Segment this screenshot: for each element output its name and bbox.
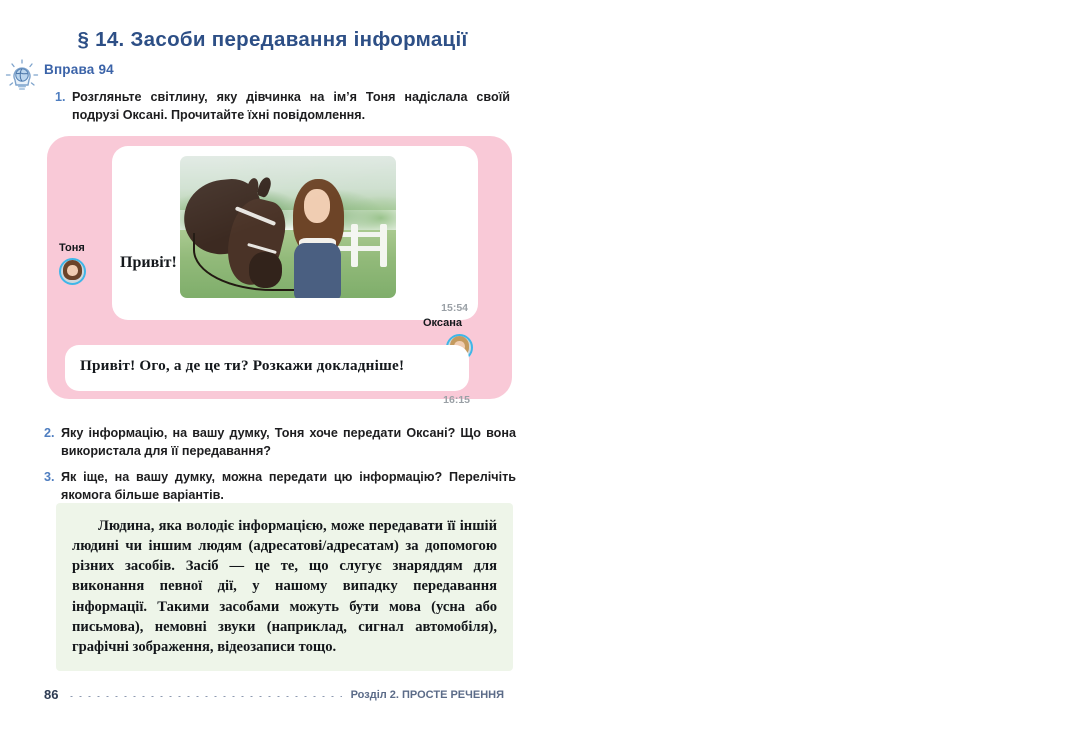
avatar-tonya [59,258,86,285]
page-title: § 14. Засоби передавання інформації [0,0,545,52]
task-item: 3. Як іще, на вашу думку, можна передати… [44,468,516,505]
chat-receiver-name: Оксана [423,317,462,329]
chat-sender-name: Тоня [59,242,85,254]
textbook-spread: § 14. Засоби передавання інформації [0,0,1089,730]
task-number: 1. [55,88,72,125]
task-text: Як іще, на вашу думку, можна передати цю… [61,468,516,505]
footer-left: 86 Розділ 2. ПРОСТЕ РЕЧЕННЯ [44,687,504,702]
chat-message-in-text: Привіт! [120,254,177,272]
task-item: 1. Розгляньте світлину, яку дівчинка на … [55,88,510,125]
info-box-left-paragraph: Людина, яка володіє інформацією, може пе… [72,516,497,657]
exercise-94-tasks: 1. Розгляньте світлину, яку дівчинка на … [55,88,510,132]
task-item: 2. Яку інформацію, на вашу думку, Тоня х… [44,424,516,461]
exercise-label-94: Вправа 94 [44,62,114,77]
left-page: § 14. Засоби передавання інформації [0,0,545,730]
chat-message-out-time: 16:15 [443,394,470,406]
right-page: Вправа 95 Пригадайте, які засоби передав… [545,0,1089,730]
lightbulb-globe-icon [4,58,40,94]
task-number: 2. [44,424,61,461]
footer-section-left: Розділ 2. ПРОСТЕ РЕЧЕННЯ [351,689,504,701]
chat-message-out-text: Привіт! Ого, а де це ти? Розкажи докладн… [80,357,404,375]
chat-illustration: Тоня [47,136,512,399]
chat-bubble-incoming: Привіт! 15:54 [112,146,478,320]
footer-dots [67,696,341,697]
task-number: 3. [44,468,61,505]
chat-photo-girl-with-horse [180,156,396,298]
task-text: Яку інформацію, на вашу думку, Тоня хоче… [61,424,516,461]
info-box-left: Людина, яка володіє інформацією, може пе… [56,503,513,671]
task-text: Розгляньте світлину, яку дівчинка на ім’… [72,88,510,125]
chat-message-in-time: 15:54 [441,302,468,314]
page-number-left: 86 [44,687,58,702]
exercise-94-tasks-cont: 2. Яку інформацію, на вашу думку, Тоня х… [44,424,516,511]
chat-bubble-outgoing: Привіт! Ого, а де це ти? Розкажи докладн… [65,345,469,391]
